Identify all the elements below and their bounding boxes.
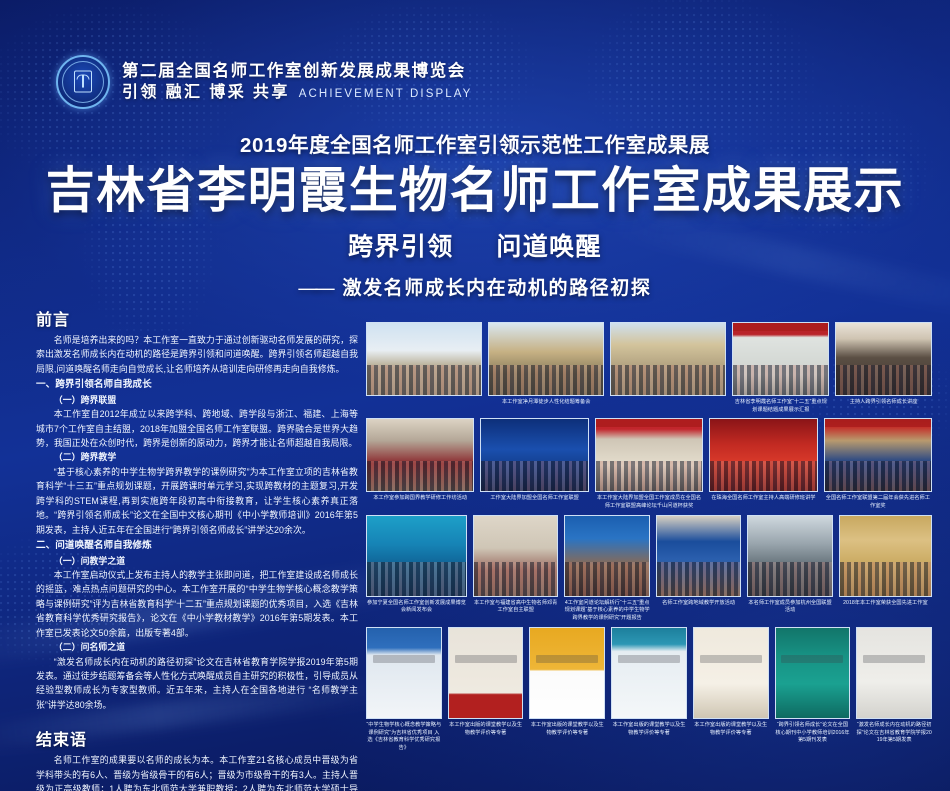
section-one-sub2-heading: （二）跨界教学: [36, 450, 358, 464]
brand-subtitle-row: 引领 融汇 博采 共享 ACHIEVEMENT DISPLAY: [122, 82, 472, 104]
gallery-photo[interactable]: [448, 627, 524, 719]
photo-crowd-overlay: [840, 562, 931, 596]
brand-motto: 引领 融汇 博采 共享: [122, 82, 290, 104]
photo-banner-overlay: [733, 323, 828, 331]
gallery-photo[interactable]: [366, 418, 474, 492]
brand-text-block: 第二届全国名师工作室创新发展成果博览会 引领 融汇 博采 共享 ACHIEVEM…: [122, 60, 472, 104]
gallery-photo[interactable]: [610, 322, 726, 396]
gallery-item[interactable]: 全国名师工作室联盟第二届年会获先进名师工作室奖: [824, 418, 932, 510]
photo-crowd-overlay: [474, 562, 557, 596]
gallery-item[interactable]: 本工作室净月潭徒步人性化结题筹备会: [488, 322, 604, 407]
preface-paragraph: 名师是培养出来的吗？本工作室一直致力于通过创新驱动名师发展的研究，探索出激发名师…: [36, 333, 358, 376]
section-two-sub2-heading: （二）问名师之道: [36, 640, 358, 654]
gallery-item[interactable]: 本工作室与福建省高中生物名师邓青工作室自主联盟: [473, 515, 558, 615]
photo-crowd-overlay: [733, 365, 828, 395]
gallery-caption: “激发名师成长内在动机的路径初探”论文在吉林省教育学院学报2019年第5期发表: [856, 722, 932, 745]
book-cover-title-band: [455, 655, 517, 663]
hero-tagline: ——激发名师成长内在动机的路径初探: [0, 273, 950, 300]
gallery-item[interactable]: 本工作室出版的课堂教学以及生物教学评价等专著: [529, 627, 605, 737]
section-one-heading: 一、跨界引领名师自我成长: [36, 377, 358, 393]
gallery-photo[interactable]: [656, 515, 741, 597]
book-cover-title-band: [373, 655, 435, 663]
gallery-item[interactable]: 本工作室参加跨国界教学研修工作坊活动: [366, 418, 474, 503]
gallery-caption: 本名师工作室成员参加杭州全国联盟活动: [747, 600, 832, 615]
gallery-photo[interactable]: [709, 418, 817, 492]
gallery-photo[interactable]: [529, 627, 605, 719]
gallery-item[interactable]: “中学生物学核心概念教学策略与课例研究”为吉林省优秀项目 入选《吉林省教育科学优…: [366, 627, 442, 753]
gallery-item[interactable]: 吉林省李明霞名师工作室“十二五”重点规划课题结题成果展示汇报: [732, 322, 829, 414]
gallery-caption: 本工作室出版的课堂教学以及生物教学评价等专著: [611, 722, 687, 737]
gallery-caption: 在珠海全国名师工作室主持人高端研修班讲学: [709, 495, 817, 503]
gallery-item[interactable]: 本工作室出版的课堂教学以及生物教学评价等专著: [611, 627, 687, 737]
preface-body: 名师是培养出来的吗？本工作室一直致力于通过创新驱动名师发展的研究，探索出激发名师…: [36, 333, 358, 712]
photo-crowd-overlay: [825, 461, 931, 491]
gallery-photo[interactable]: [611, 627, 687, 719]
gallery-item[interactable]: 主持人跨界引领名师成长讲座: [835, 322, 932, 407]
photo-crowd-overlay: [611, 365, 725, 395]
gallery-caption: 本工作室净月潭徒步人性化结题筹备会: [488, 399, 604, 407]
gallery-photo[interactable]: [480, 418, 588, 492]
preface-heading: 前言: [36, 306, 358, 330]
row-1-field-activities: 本工作室净月潭徒步人性化结题筹备会吉林省李明霞名师工作室“十二五”重点规划课题结…: [366, 322, 932, 414]
gallery-caption: 名师工作室跨地域教学开放活动: [656, 600, 741, 608]
gallery-caption: 本工作室与福建省高中生物名师邓青工作室自主联盟: [473, 600, 558, 615]
book-cover-title-band: [863, 655, 925, 663]
hero-title-block: 2019年度全国名师工作室引领示范性工作室成果展 吉林省李明霞生物名师工作室成果…: [0, 128, 950, 300]
gallery-photo[interactable]: [366, 515, 467, 597]
row-4-publications: “中学生物学核心概念教学策略与课例研究”为吉林省优秀项目 入选《吉林省教育科学优…: [366, 627, 932, 753]
photo-crowd-overlay: [748, 562, 831, 596]
photo-crowd-overlay: [367, 461, 473, 491]
gallery-item[interactable]: 在珠海全国名师工作室主持人高端研修班讲学: [709, 418, 817, 503]
gallery-item[interactable]: “跨界引领名师成长”论文在全国核心期刊中小学教师培训2016年第5期刊发表: [775, 627, 851, 745]
gallery-caption: 本工作室参加跨国界教学研修工作坊活动: [366, 495, 474, 503]
gallery-caption: 本工作室出版的课堂教学以及生物教学评价等专著: [693, 722, 769, 737]
section-two-heading: 二、问道唤醒名师自我修炼: [36, 538, 358, 554]
photo-crowd-overlay: [367, 562, 466, 596]
brand-title: 第二届全国名师工作室创新发展成果博览会: [122, 60, 472, 82]
gallery-item[interactable]: 本工作室出版的课堂教学以及生物教学评价等专著: [693, 627, 769, 737]
gallery-item[interactable]: 名师工作室跨地域教学开放活动: [656, 515, 741, 608]
gallery-caption: 本工作室出版的课堂教学以及生物教学评价等专著: [529, 722, 605, 737]
section-two-sub1-text: 本工作室启动仪式上发布主持人的教学主张即问道，把工作室建设成名师成长的摇篮，难点…: [36, 568, 358, 640]
gallery-photo[interactable]: [488, 322, 604, 396]
gallery-photo[interactable]: [775, 627, 851, 719]
photo-banner-overlay: [825, 419, 931, 427]
gallery-photo[interactable]: [595, 418, 703, 492]
hero-slogan-left: 跨界引领: [348, 233, 454, 261]
gallery-photo[interactable]: [856, 627, 932, 719]
gallery-caption: “跨界引领名师成长”论文在全国核心期刊中小学教师培训2016年第5期刊发表: [775, 722, 851, 745]
gallery-caption: 全国名师工作室联盟第二届年会获先进名师工作室奖: [824, 495, 932, 510]
gallery-item[interactable]: “激发名师成长内在动机的路径初探”论文在吉林省教育学院学报2019年第5期发表: [856, 627, 932, 745]
photo-gallery: 本工作室净月潭徒步人性化结题筹备会吉林省李明霞名师工作室“十二五”重点规划课题结…: [366, 322, 932, 757]
photo-crowd-overlay: [657, 562, 740, 596]
book-cover-title-band: [536, 655, 598, 663]
brand-motto-english: ACHIEVEMENT DISPLAY: [299, 87, 473, 103]
section-two-sub2-text: “激发名师成长内在动机的路径初探”论文在吉林省教育学院学报2019年第5期发表。…: [36, 655, 358, 713]
gallery-caption: 4工作室问道论坛解析行“十三五”重点规划课题“基于核心素养的中学生物学跨界教学的…: [564, 600, 649, 623]
section-one-sub1-heading: （一）跨界联盟: [36, 393, 358, 407]
gallery-photo[interactable]: [835, 322, 932, 396]
section-one-sub2-text: “基于核心素养的中学生物学跨界教学的课例研究”为本工作室立项的吉林省教育科学“十…: [36, 465, 358, 537]
hero-slogan: 跨界引领 问道唤醒: [0, 227, 950, 263]
gallery-caption: 2018年本工作室荣获全国先进工作室: [839, 600, 932, 608]
gallery-caption: 参加宁夏全国名师工作室创新发展成果博览会新闻发布会: [366, 600, 467, 615]
hero-tagline-dash: ——: [298, 278, 332, 299]
row-2-alliance-awards: 本工作室参加跨国界教学研修工作坊活动工作室大陆界加盟全国名师工作室联盟本工作室大…: [366, 418, 932, 510]
hero-tagline-text: 激发名师成长内在动机的路径初探: [342, 278, 651, 299]
gallery-photo[interactable]: [693, 627, 769, 719]
book-cover-title-band: [700, 655, 762, 663]
academy-emblem-icon: [56, 55, 110, 109]
conclusion-block: 结束语 名师工作室的成果要以名师的成长为本。本工作室21名核心成员中晋级为省学科…: [36, 726, 358, 791]
gallery-caption: 本工作室出版的课堂教学以及生物教学评价等专著: [448, 722, 524, 737]
poster-canvas: 第二届全国名师工作室创新发展成果博览会 引领 融汇 博采 共享 ACHIEVEM…: [0, 0, 950, 791]
gallery-photo[interactable]: [564, 515, 649, 597]
gallery-caption: “中学生物学核心概念教学策略与课例研究”为吉林省优秀项目 入选《吉林省教育科学优…: [366, 722, 442, 753]
gallery-caption: 本工作室大陆界加盟全国工作室成员在全国名师工作室联盟高峰论坛千山问道杯获奖: [595, 495, 703, 510]
conclusion-paragraph: 名师工作室的成果要以名师的成长为本。本工作室21名核心成员中晋级为省学科带头的有…: [36, 753, 358, 791]
book-cover-title-band: [618, 655, 680, 663]
gallery-photo[interactable]: [839, 515, 932, 597]
gallery-photo[interactable]: [366, 627, 442, 719]
hero-subtitle: 2019年度全国名师工作室引领示范性工作室成果展: [0, 128, 950, 158]
gallery-item[interactable]: 工作室大陆界加盟全国名师工作室联盟: [480, 418, 588, 503]
preface-block: 前言 名师是培养出来的吗？本工作室一直致力于通过创新驱动名师发展的研究，探索出激…: [36, 306, 358, 712]
row-3-events-honors: 参加宁夏全国名师工作室创新发展成果博览会新闻发布会本工作室与福建省高中生物名师邓…: [366, 515, 932, 623]
gallery-item[interactable]: 本名师工作室成员参加杭州全国联盟活动: [747, 515, 832, 615]
gallery-item[interactable]: [610, 322, 726, 399]
left-text-column: 前言 名师是培养出来的吗？本工作室一直致力于通过创新驱动名师发展的研究，探索出激…: [36, 306, 358, 791]
conclusion-heading: 结束语: [36, 726, 358, 750]
gallery-photo[interactable]: [366, 322, 482, 396]
gallery-photo[interactable]: [747, 515, 832, 597]
section-two-sub1-heading: （一）问教学之道: [36, 554, 358, 568]
section-one-sub1-text: 本工作室自2012年成立以来跨学科、跨地域、跨学段与浙江、福建、上海等城市7个工…: [36, 407, 358, 450]
gallery-caption: 吉林省李明霞名师工作室“十二五”重点规划课题结题成果展示汇报: [732, 399, 829, 414]
gallery-item[interactable]: 2018年本工作室荣获全国先进工作室: [839, 515, 932, 608]
photo-crowd-overlay: [596, 461, 702, 491]
photo-crowd-overlay: [836, 365, 931, 395]
gallery-item[interactable]: [366, 322, 482, 399]
book-cover-title-band: [781, 655, 843, 663]
gallery-caption: 主持人跨界引领名师成长讲座: [835, 399, 932, 407]
brand-bar: 第二届全国名师工作室创新发展成果博览会 引领 融汇 博采 共享 ACHIEVEM…: [0, 48, 950, 116]
photo-crowd-overlay: [489, 365, 603, 395]
gallery-photo[interactable]: [473, 515, 558, 597]
gallery-item[interactable]: 本工作室出版的课堂教学以及生物教学评价等专著: [448, 627, 524, 737]
conclusion-body: 名师工作室的成果要以名师的成长为本。本工作室21名核心成员中晋级为省学科带头的有…: [36, 753, 358, 791]
gallery-item[interactable]: 本工作室大陆界加盟全国工作室成员在全国名师工作室联盟高峰论坛千山问道杯获奖: [595, 418, 703, 510]
gallery-photo[interactable]: [732, 322, 829, 396]
photo-crowd-overlay: [565, 562, 648, 596]
gallery-photo[interactable]: [824, 418, 932, 492]
gallery-caption: 工作室大陆界加盟全国名师工作室联盟: [480, 495, 588, 503]
photo-crowd-overlay: [481, 461, 587, 491]
gallery-item[interactable]: 4工作室问道论坛解析行“十三五”重点规划课题“基于核心素养的中学生物学跨界教学的…: [564, 515, 649, 623]
gallery-item[interactable]: 参加宁夏全国名师工作室创新发展成果博览会新闻发布会: [366, 515, 467, 615]
hero-slogan-right: 问道唤醒: [496, 233, 602, 261]
photo-crowd-overlay: [367, 365, 481, 395]
photo-banner-overlay: [596, 419, 702, 427]
page-title: 吉林省李明霞生物名师工作室成果展示: [0, 164, 950, 219]
photo-crowd-overlay: [710, 461, 816, 491]
